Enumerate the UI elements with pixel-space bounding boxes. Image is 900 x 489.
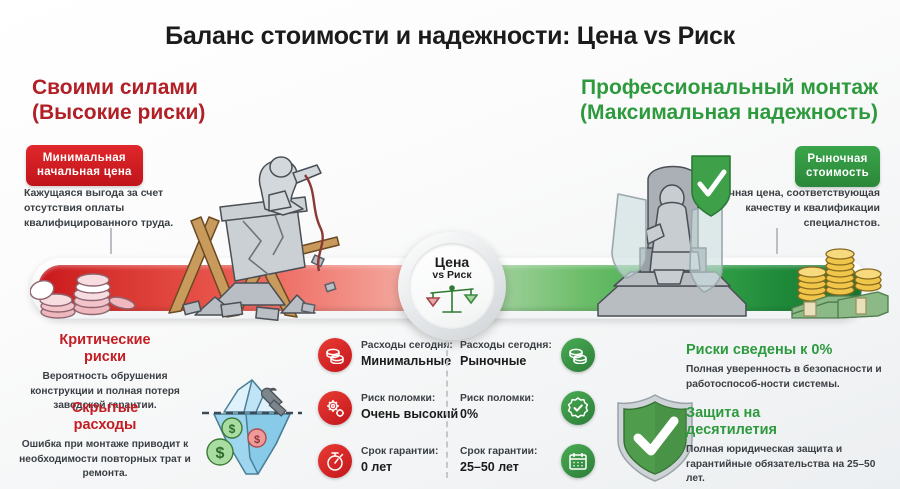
left-badge-line1: Минимальная [37,151,132,165]
note-decades-protection: Защита на десятилетия Полная юридическая… [686,405,886,487]
note-zero-body: Полная уверенность в безопасности и рабо… [686,363,886,392]
calendar-icon [561,444,595,478]
gears-icon [318,391,352,425]
balance-scale-icon [426,284,478,318]
right-row-failure: Риск поломки: 0% [460,389,595,427]
medallion-line2: vs Риск [432,269,471,283]
seated-statue-shield-icon [588,152,756,322]
medallion-line1: Цена [435,255,469,269]
note-hidden-body: Ошибка при монтаже приводит к необходимо… [12,438,198,481]
iceberg-hidden-costs-icon: $ $ $ [200,378,304,482]
left-section-heading: Своими силами (Высокие риски) [32,76,205,126]
right-price-badge: Рыночная стоимость [795,146,880,187]
right-heading-line1: Профессиональный монтаж [580,76,878,101]
note-critical-title2: риски [84,349,126,365]
right-row-failure-label: Риск поломки: [460,393,552,406]
right-row-cost-label: Расходы сегодня: [460,340,552,353]
left-price-badge: Минимальная начальная цена [26,145,143,186]
left-row-warranty-value: 0 лет [361,460,438,476]
right-row-cost-value: Рыночные [460,354,552,370]
infographic-canvas: Баланс стоимости и надежности: Цена vs Р… [0,0,900,489]
right-row-warranty-value: 25–50 лет [460,460,552,476]
page-title: Баланс стоимости и надежности: Цена vs Р… [0,22,900,51]
price-vs-risk-medallion: Цена vs Риск [398,232,506,340]
note-decades-title1: Защита на [686,405,760,421]
left-heading-line2: (Высокие риски) [32,101,205,126]
coin-stacks-cash-icon [782,240,890,320]
comparison-divider [446,340,448,478]
right-comparison-column: Расходы сегодня: Рыночные Риск поломки: … [460,336,595,480]
right-row-warranty-label: Срок гарантии: [460,446,552,459]
falling-coins-icon [30,248,140,320]
svg-text:$: $ [216,445,225,462]
left-row-failure-label: Риск поломки: [361,393,458,406]
left-row-cost-value: Минимальные [361,354,453,370]
left-row-warranty: Срок гарантии: 0 лет [318,442,458,480]
note-zero-risk: Риски сведены к 0% Полная уверенность в … [686,342,886,392]
right-row-warranty: Срок гарантии: 25–50 лет [460,442,595,480]
right-heading-line2: (Максимальная надежность) [580,101,878,126]
note-decades-body: Полная юридическая защита и гарантийные … [686,443,886,486]
left-row-warranty-label: Срок гарантии: [361,446,438,459]
note-critical-title1: Критические [59,332,150,348]
note-hidden-title2: расходы [74,417,137,433]
coins-icon [561,338,595,372]
left-comparison-column: Расходы сегодня: Минимальные Риск поломк… [318,336,458,480]
note-hidden-title1: Скрытые [72,400,139,416]
note-decades-title2: десятилетия [686,422,777,438]
collapsing-statue-icon [165,155,375,323]
check-badge-icon [561,391,595,425]
right-row-cost: Расходы сегодня: Рыночные [460,336,595,374]
right-badge-line1: Рыночная [806,152,869,166]
left-badge-line2: начальная цена [37,165,132,179]
svg-text:$: $ [229,422,236,436]
left-row-failure: Риск поломки: Очень высокий [318,389,458,427]
right-connector-line [776,228,778,254]
coins-icon [318,338,352,372]
left-row-failure-value: Очень высокий [361,407,458,423]
left-row-cost-label: Расходы сегодня: [361,340,453,353]
left-row-cost: Расходы сегодня: Минимальные [318,336,458,374]
note-zero-title1: Риски сведены к 0% [686,342,832,358]
note-hidden-costs: Скрытые расходы Ошибка при монтаже приво… [12,400,198,482]
stopwatch-icon [318,444,352,478]
right-section-heading: Профессиональный монтаж (Максимальная на… [580,76,878,126]
right-badge-line2: стоимость [806,166,869,180]
svg-text:$: $ [254,434,260,446]
right-row-failure-value: 0% [460,407,552,423]
left-heading-line1: Своими силами [32,76,205,101]
